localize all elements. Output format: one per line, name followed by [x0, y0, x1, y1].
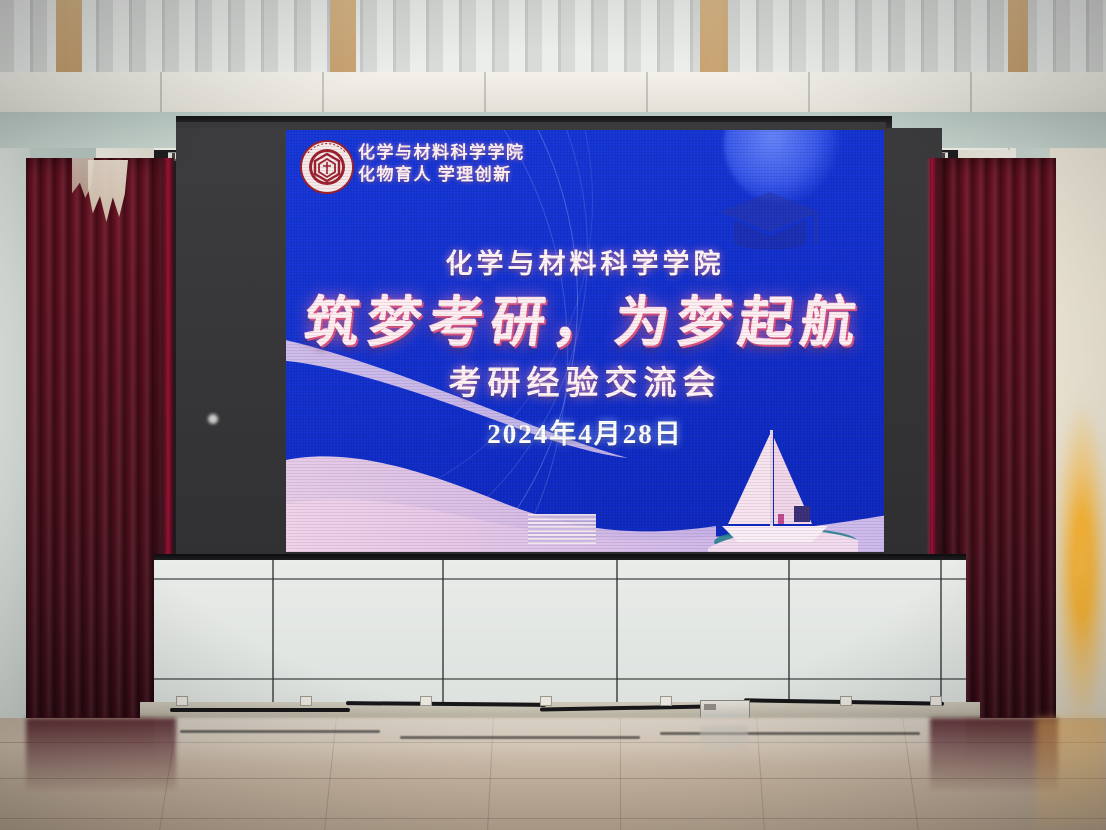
screen-subtitle: 考研经验交流会 — [286, 356, 884, 404]
floor-cable — [170, 708, 350, 712]
org-line-2: 化物育人 学理创新 — [358, 164, 525, 186]
led-screen: 化学与材料科学学院 化物育人 学理创新 化学与材料科学学院 筑梦考研，为梦起航 … — [286, 130, 884, 552]
warm-light-glow — [1058, 400, 1106, 730]
screen-college-title: 化学与材料科学学院 — [286, 242, 884, 281]
ceiling-wood-panel — [330, 0, 356, 72]
ceiling-beam-upper — [0, 72, 1106, 114]
org-line-1: 化学与材料科学学院 — [358, 142, 525, 164]
ceiling-wood-panel — [56, 0, 82, 72]
screen-date: 2024年4月28日 — [286, 412, 884, 451]
screen-org-block: 化学与材料科学学院 化物育人 学理创新 — [358, 142, 525, 186]
ceiling-wood-panel — [700, 0, 728, 72]
ceiling-slats — [0, 0, 1106, 78]
striped-block-icon — [528, 514, 596, 544]
university-emblem-icon — [300, 140, 354, 194]
floor-reflection-jbox — [700, 726, 748, 752]
stage-front-panels — [154, 560, 966, 706]
ceiling-wood-panel — [1008, 0, 1028, 72]
screen-main-title: 筑梦考研，为梦起航 — [286, 278, 884, 357]
stage-curtain-left — [26, 158, 174, 752]
led-wall-dark-left — [176, 128, 286, 558]
stage-photo-scene: 化学与材料科学学院 化物育人 学理创新 化学与材料科学学院 筑梦考研，为梦起航 … — [0, 0, 1106, 830]
floor-reflection-curtain — [26, 718, 176, 790]
floor-reflection-stage — [154, 718, 966, 764]
floor-warm-reflection — [1036, 718, 1106, 830]
